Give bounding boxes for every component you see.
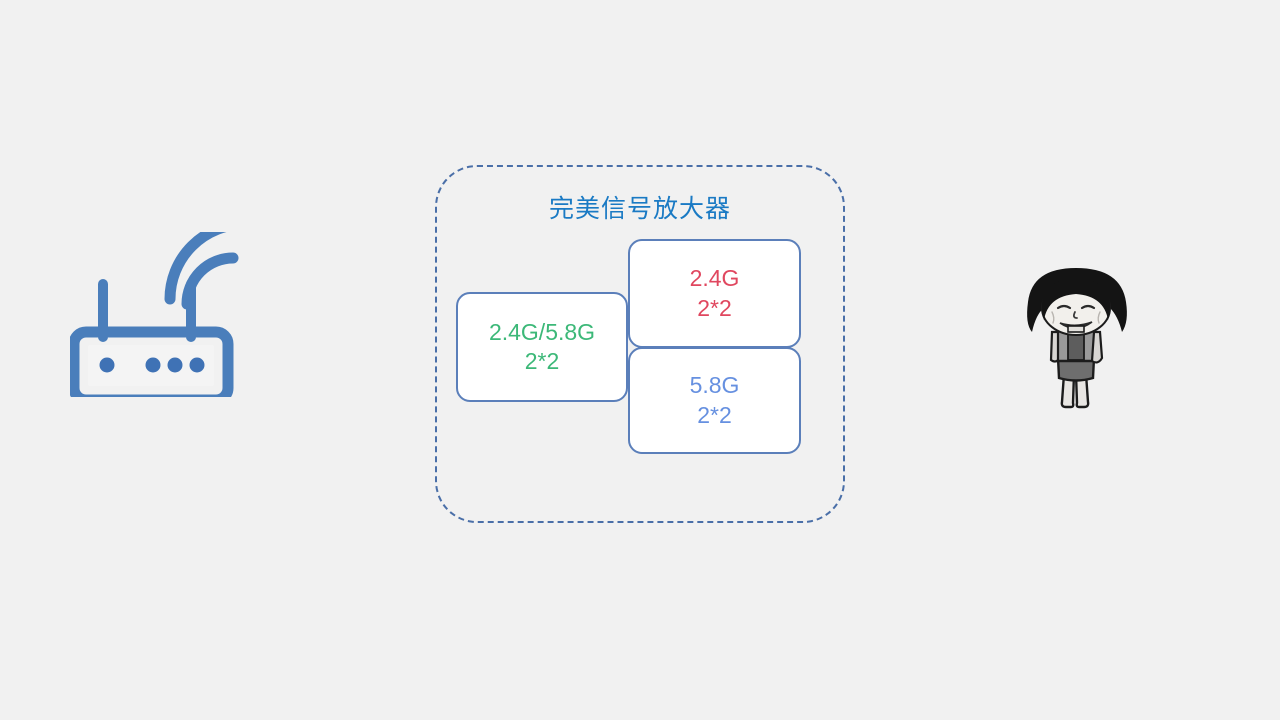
module-box-dual-band[interactable]: 2.4G/5.8G 2*2 — [456, 292, 628, 402]
module-dual-band-label: 2.4G/5.8G — [489, 318, 595, 347]
wifi-router-icon — [70, 232, 250, 397]
diagram-canvas: 完美信号放大器 2.4G 2*2 5.8G 2*2 2.4G/5.8G 2*2 — [0, 0, 1280, 720]
module-24g-stream-label: 2*2 — [697, 294, 732, 323]
module-58g-stream-label: 2*2 — [697, 401, 732, 430]
amplifier-title: 完美信号放大器 — [437, 189, 843, 225]
module-box-58g[interactable]: 5.8G 2*2 — [628, 347, 801, 454]
meme-person-illustration — [1018, 266, 1136, 414]
module-dual-stream-label: 2*2 — [525, 347, 560, 376]
module-58g-band-label: 5.8G — [690, 371, 740, 400]
module-box-24g[interactable]: 2.4G 2*2 — [628, 239, 801, 348]
module-24g-band-label: 2.4G — [690, 264, 740, 293]
